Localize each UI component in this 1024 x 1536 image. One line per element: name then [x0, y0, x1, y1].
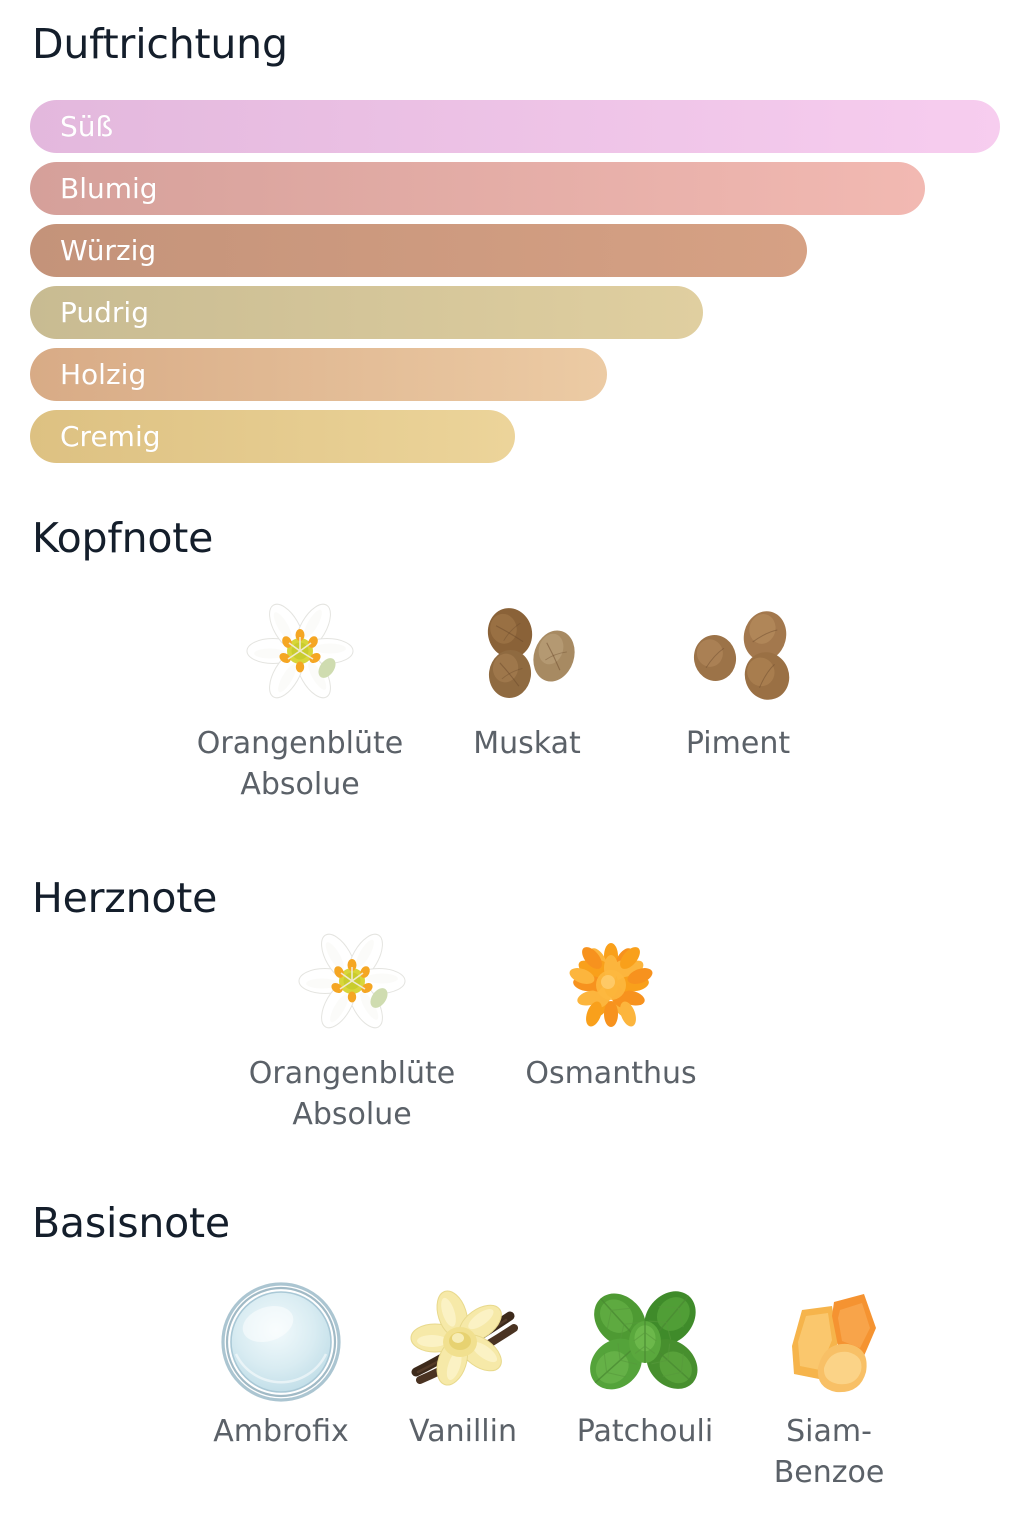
note-item-label: Vanillin	[409, 1412, 517, 1453]
section-heading-herznote: Herznote	[32, 878, 217, 919]
note-item[interactable]: Siam- Benzoe	[736, 1276, 922, 1493]
note-item[interactable]: Patchouli	[554, 1276, 736, 1453]
glass-dish-icon	[216, 1276, 346, 1406]
note-item-label: Orangenblüte Absolue	[197, 724, 403, 805]
note-item-label: Ambrofix	[213, 1412, 348, 1453]
bar-blumig[interactable]: Blumig	[30, 162, 925, 215]
bar-cremig[interactable]: Cremig	[30, 410, 515, 463]
bar-row: Würzig	[30, 224, 1010, 286]
bar-label: Süß	[60, 113, 113, 141]
note-item[interactable]: Vanillin	[372, 1276, 554, 1453]
note-item-label: Siam- Benzoe	[774, 1412, 885, 1493]
note-item[interactable]: Orangenblüte Absolue	[178, 588, 422, 805]
bar-pudrig[interactable]: Pudrig	[30, 286, 703, 339]
orange-blossom-icon	[287, 918, 417, 1048]
bar-row: Cremig	[30, 410, 1010, 472]
note-item[interactable]: Osmanthus	[482, 918, 740, 1095]
bar-süß[interactable]: Süß	[30, 100, 1000, 153]
note-item[interactable]: Piment	[632, 588, 844, 765]
bar-label: Würzig	[60, 237, 156, 265]
bar-row: Süß	[30, 100, 1010, 162]
base-note-list: AmbrofixVanillinPatchouliSiam- Benzoe	[190, 1276, 922, 1493]
note-item-label: Piment	[686, 724, 790, 765]
patchouli-leaf-icon	[580, 1276, 710, 1406]
bar-würzig[interactable]: Würzig	[30, 224, 807, 277]
section-heading-kopfnote: Kopfnote	[32, 518, 213, 559]
section-heading-duftrichtung: Duftrichtung	[32, 24, 288, 65]
allspice-icon	[673, 588, 803, 718]
note-item[interactable]: Ambrofix	[190, 1276, 372, 1453]
bar-label: Holzig	[60, 361, 146, 389]
fragrance-profile-page: Duftrichtung SüßBlumigWürzigPudrigHolzig…	[0, 0, 1024, 1536]
orange-blossom-icon	[235, 588, 365, 718]
scent-direction-bar-chart: SüßBlumigWürzigPudrigHolzigCremig	[30, 100, 1010, 472]
note-item-label: Patchouli	[577, 1412, 713, 1453]
bar-label: Cremig	[60, 423, 161, 451]
benzoin-resin-icon	[764, 1276, 894, 1406]
vanilla-flower-icon	[398, 1276, 528, 1406]
note-item[interactable]: Orangenblüte Absolue	[222, 918, 482, 1135]
bar-row: Pudrig	[30, 286, 1010, 348]
bar-row: Holzig	[30, 348, 1010, 410]
section-heading-basisnote: Basisnote	[32, 1203, 230, 1244]
note-item-label: Muskat	[473, 724, 581, 765]
heart-note-list: Orangenblüte AbsolueOsmanthus	[222, 918, 740, 1135]
osmanthus-flower-icon	[546, 918, 676, 1048]
top-note-list: Orangenblüte AbsolueMuskatPiment	[178, 588, 844, 805]
note-item-label: Osmanthus	[525, 1054, 696, 1095]
bar-row: Blumig	[30, 162, 1010, 224]
bar-holzig[interactable]: Holzig	[30, 348, 607, 401]
bar-label: Blumig	[60, 175, 158, 203]
note-item-label: Orangenblüte Absolue	[249, 1054, 455, 1135]
note-item[interactable]: Muskat	[422, 588, 632, 765]
bar-label: Pudrig	[60, 299, 149, 327]
nutmeg-icon	[462, 588, 592, 718]
